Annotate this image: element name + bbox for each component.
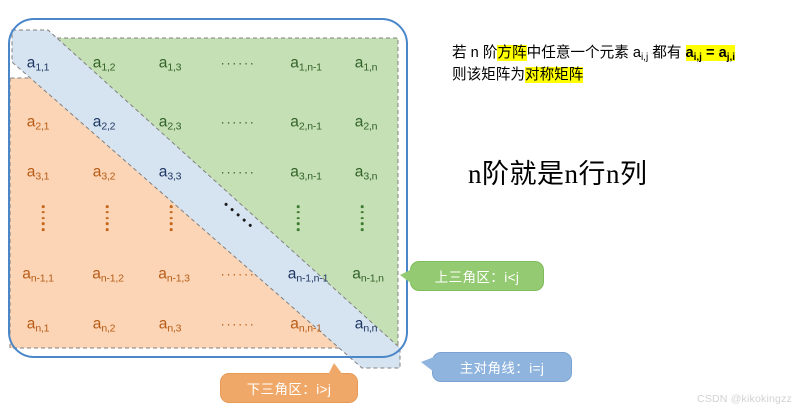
vertical-ellipsis xyxy=(361,205,364,231)
horizontal-ellipsis: ······ xyxy=(221,165,256,180)
matrix-cell: a1,2 xyxy=(93,55,116,71)
horizontal-ellipsis: ······ xyxy=(221,56,256,71)
matrix-cell: a2,2 xyxy=(93,114,116,130)
matrix-cell-index: n,n xyxy=(363,322,377,334)
matrix-cell: a1,3 xyxy=(159,55,182,71)
callout-lower-label: 下三角区：i>j xyxy=(247,378,332,398)
definition-note: 若 n 阶方阵中任意一个元素 ai,j 都有 ai,j = aj,i 则该矩阵为… xyxy=(452,42,792,86)
matrix-cell-index: 2,n-1 xyxy=(299,120,322,132)
horizontal-ellipsis: ······ xyxy=(221,115,256,130)
callout-lower-tail xyxy=(328,363,343,375)
matrix-cell: a3,1 xyxy=(27,164,50,180)
matrix-cell-symbol: a xyxy=(22,265,31,282)
matrix-cell: a2,n xyxy=(355,114,378,130)
matrix-cell: an-1,2 xyxy=(92,266,124,282)
matrix-cell-symbol: a xyxy=(27,163,36,180)
matrix-cell-index: 2,2 xyxy=(101,120,115,132)
matrix-cell-symbol: a xyxy=(355,113,364,130)
matrix-cell: a3,3 xyxy=(159,164,182,180)
matrix-cell-symbol: a xyxy=(93,113,102,130)
matrix-cell: an,1 xyxy=(27,316,50,332)
watermark: CSDN @kikokingzz xyxy=(697,393,792,405)
callout-upper-tail xyxy=(400,269,412,284)
matrix-cell-symbol: a xyxy=(355,163,364,180)
matrix-cell-index: n,2 xyxy=(101,322,115,334)
matrix-cell-index: 2,1 xyxy=(35,120,49,132)
matrix-cell-symbol: a xyxy=(352,265,361,282)
note-highlight-formula: ai,j = aj,i xyxy=(686,45,736,61)
matrix-cell-symbol: a xyxy=(288,265,297,282)
matrix-cell-index: 3,3 xyxy=(167,170,181,182)
matrix-cell: an-1,n xyxy=(352,266,384,282)
note-highlight-square-matrix: 方阵 xyxy=(497,45,526,61)
callout-main-diagonal: 主对角线：i=j xyxy=(432,352,572,382)
matrix-cell-index: n-1,1 xyxy=(31,272,54,284)
callout-upper-label: 上三角区：i<j xyxy=(435,266,520,286)
matrix-cell-symbol: a xyxy=(159,113,168,130)
matrix-cell-index: n-1,n xyxy=(361,272,384,284)
matrix-cell-index: n-1,3 xyxy=(167,272,190,284)
matrix-cell-symbol: a xyxy=(27,315,36,332)
matrix-cell-symbol: a xyxy=(290,163,299,180)
definition-note-line2: 则该矩阵为对称矩阵 xyxy=(452,64,792,86)
matrix-cell-symbol: a xyxy=(159,163,168,180)
matrix-cell-symbol: a xyxy=(290,113,299,130)
matrix-cell: an-1,1 xyxy=(22,266,54,282)
vertical-ellipsis xyxy=(42,205,45,231)
matrix-cell: an,3 xyxy=(159,316,182,332)
matrix-cell-symbol: a xyxy=(27,54,36,71)
matrix-cell-index: 2,3 xyxy=(167,120,181,132)
matrix-cell-index: 1,n-1 xyxy=(299,61,322,73)
matrix-cell-index: 3,1 xyxy=(35,170,49,182)
matrix-cell-symbol: a xyxy=(158,265,167,282)
matrix-cell-index: 3,2 xyxy=(101,170,115,182)
note-text-b: 中任意一个元素 a xyxy=(527,45,641,61)
note-text-d: 则该矩阵为 xyxy=(452,67,525,83)
matrix-cell-index: n,n-1 xyxy=(299,322,322,334)
matrix-cell-index: 1,3 xyxy=(167,61,181,73)
matrix-cell-symbol: a xyxy=(27,113,36,130)
horizontal-ellipsis: ······ xyxy=(221,317,256,332)
matrix-cell-symbol: a xyxy=(93,163,102,180)
callout-upper-triangle: 上三角区：i<j xyxy=(410,261,544,291)
matrix-cell: an-1,3 xyxy=(158,266,190,282)
matrix-cell: an,n-1 xyxy=(290,316,322,332)
matrix-cell-index: n,3 xyxy=(167,322,181,334)
note-highlight-symmetric-matrix: 对称矩阵 xyxy=(525,67,583,83)
note-text-a: 若 n 阶 xyxy=(452,45,497,61)
matrix-cell-symbol: a xyxy=(290,315,299,332)
order-explanation-text: n阶就是n行n列 xyxy=(468,152,648,191)
horizontal-ellipsis: ······ xyxy=(221,267,256,282)
matrix-cell: an,2 xyxy=(93,316,116,332)
matrix-cell-symbol: a xyxy=(92,265,101,282)
matrix-cell-index: 3,n-1 xyxy=(299,170,322,182)
matrix-cell: a1,1 xyxy=(27,55,50,71)
matrix-cell: a3,n-1 xyxy=(290,164,322,180)
callout-diagonal-tail xyxy=(421,357,434,372)
matrix-cell: a2,3 xyxy=(159,114,182,130)
matrix-cell-index: n-1,n-1 xyxy=(296,272,328,284)
matrix-cell-index: 1,n xyxy=(363,61,377,73)
matrix-cell-symbol: a xyxy=(159,54,168,71)
matrix-cell: an-1,n-1 xyxy=(288,266,329,282)
matrix-cell: a1,n xyxy=(355,55,378,71)
callout-lower-triangle: 下三角区：i>j xyxy=(220,373,358,403)
matrix-cell: a2,n-1 xyxy=(290,114,322,130)
matrix-cell-symbol: a xyxy=(159,315,168,332)
matrix-cell-symbol: a xyxy=(93,54,102,71)
matrix-cell-symbol: a xyxy=(355,315,364,332)
matrix-cell: a3,n xyxy=(355,164,378,180)
matrix-cell-index: 1,1 xyxy=(35,61,49,73)
matrix-cell-symbol: a xyxy=(290,54,299,71)
matrix-cell-index: 2,n xyxy=(363,120,377,132)
matrix-cell-index: 1,2 xyxy=(101,61,115,73)
definition-note-line1: 若 n 阶方阵中任意一个元素 ai,j 都有 ai,j = aj,i xyxy=(452,42,792,64)
callout-diagonal-label: 主对角线：i=j xyxy=(460,357,545,377)
matrix-cell: a1,n-1 xyxy=(290,55,322,71)
note-subscript-ij: i,j xyxy=(641,52,648,63)
note-text-c: 都有 xyxy=(648,45,685,61)
matrix-cell-index: n-1,2 xyxy=(101,272,124,284)
matrix-cell-index: n,1 xyxy=(35,322,49,334)
matrix-cell-symbol: a xyxy=(93,315,102,332)
matrix-cell: an,n xyxy=(355,316,378,332)
matrix-cell-index: 3,n xyxy=(363,170,377,182)
matrix-cell: a2,1 xyxy=(27,114,50,130)
vertical-ellipsis xyxy=(170,205,173,231)
diagram-canvas: a1,1a1,2a1,3a1,n-1a1,na2,1a2,2a2,3a2,n-1… xyxy=(0,0,800,411)
vertical-ellipsis xyxy=(106,205,109,231)
matrix-diagram: a1,1a1,2a1,3a1,n-1a1,na2,1a2,2a2,3a2,n-1… xyxy=(0,0,440,400)
matrix-cell: a3,2 xyxy=(93,164,116,180)
matrix-bracket xyxy=(8,18,408,358)
matrix-cell-symbol: a xyxy=(355,54,364,71)
vertical-ellipsis xyxy=(297,205,300,231)
